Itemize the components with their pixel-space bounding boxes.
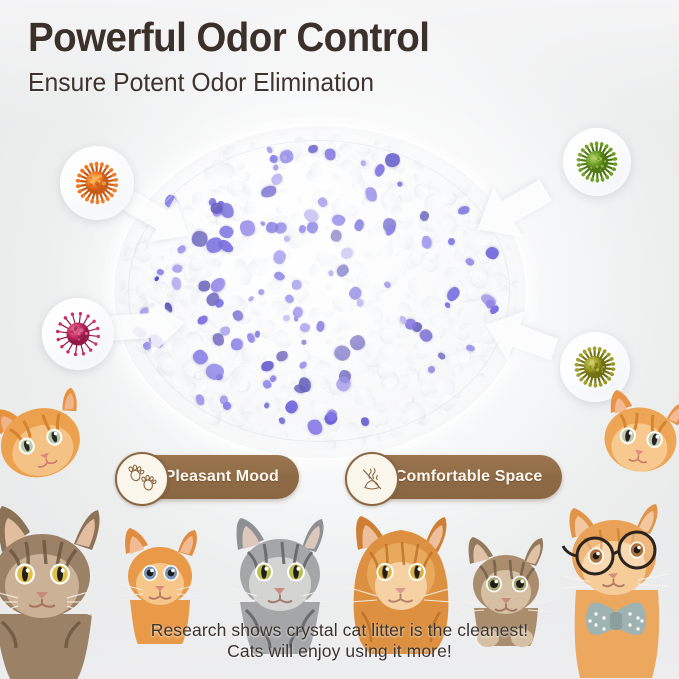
odor-free-icon <box>345 452 399 506</box>
product-marketing-image: Powerful Odor Control Ensure Potent Odor… <box>0 0 679 679</box>
pink-virus-icon <box>51 307 105 361</box>
badge-pleasant-mood[interactable]: Pleasant Mood <box>117 455 299 499</box>
caption-line-1: Research shows crystal cat litter is the… <box>0 620 679 642</box>
page-title: Powerful Odor Control <box>28 16 429 59</box>
caption-line-2: Cats will enjoy using it more! <box>0 641 679 663</box>
germ-bubble-orange <box>60 146 134 220</box>
orange-virus-icon <box>70 156 124 210</box>
odor-arrow-2 <box>102 289 190 362</box>
badge-label: Pleasant Mood <box>165 468 279 486</box>
dish-rim-inner <box>128 140 510 442</box>
badge-label: Comfortable Space <box>395 468 543 486</box>
green-virus-icon <box>571 136 623 188</box>
germ-bubble-green <box>563 128 631 196</box>
germ-bubble-pink <box>42 298 114 370</box>
page-subtitle: Ensure Potent Odor Elimination <box>28 68 434 96</box>
badge-comfortable-space[interactable]: Comfortable Space <box>347 455 563 499</box>
paw-prints-icon <box>115 452 169 506</box>
bottom-caption: Research shows crystal cat litter is the… <box>0 620 679 663</box>
feature-badges: Pleasant Mood Comfortable Space <box>0 455 679 499</box>
header-block: Powerful Odor Control Ensure Potent Odor… <box>28 16 455 97</box>
